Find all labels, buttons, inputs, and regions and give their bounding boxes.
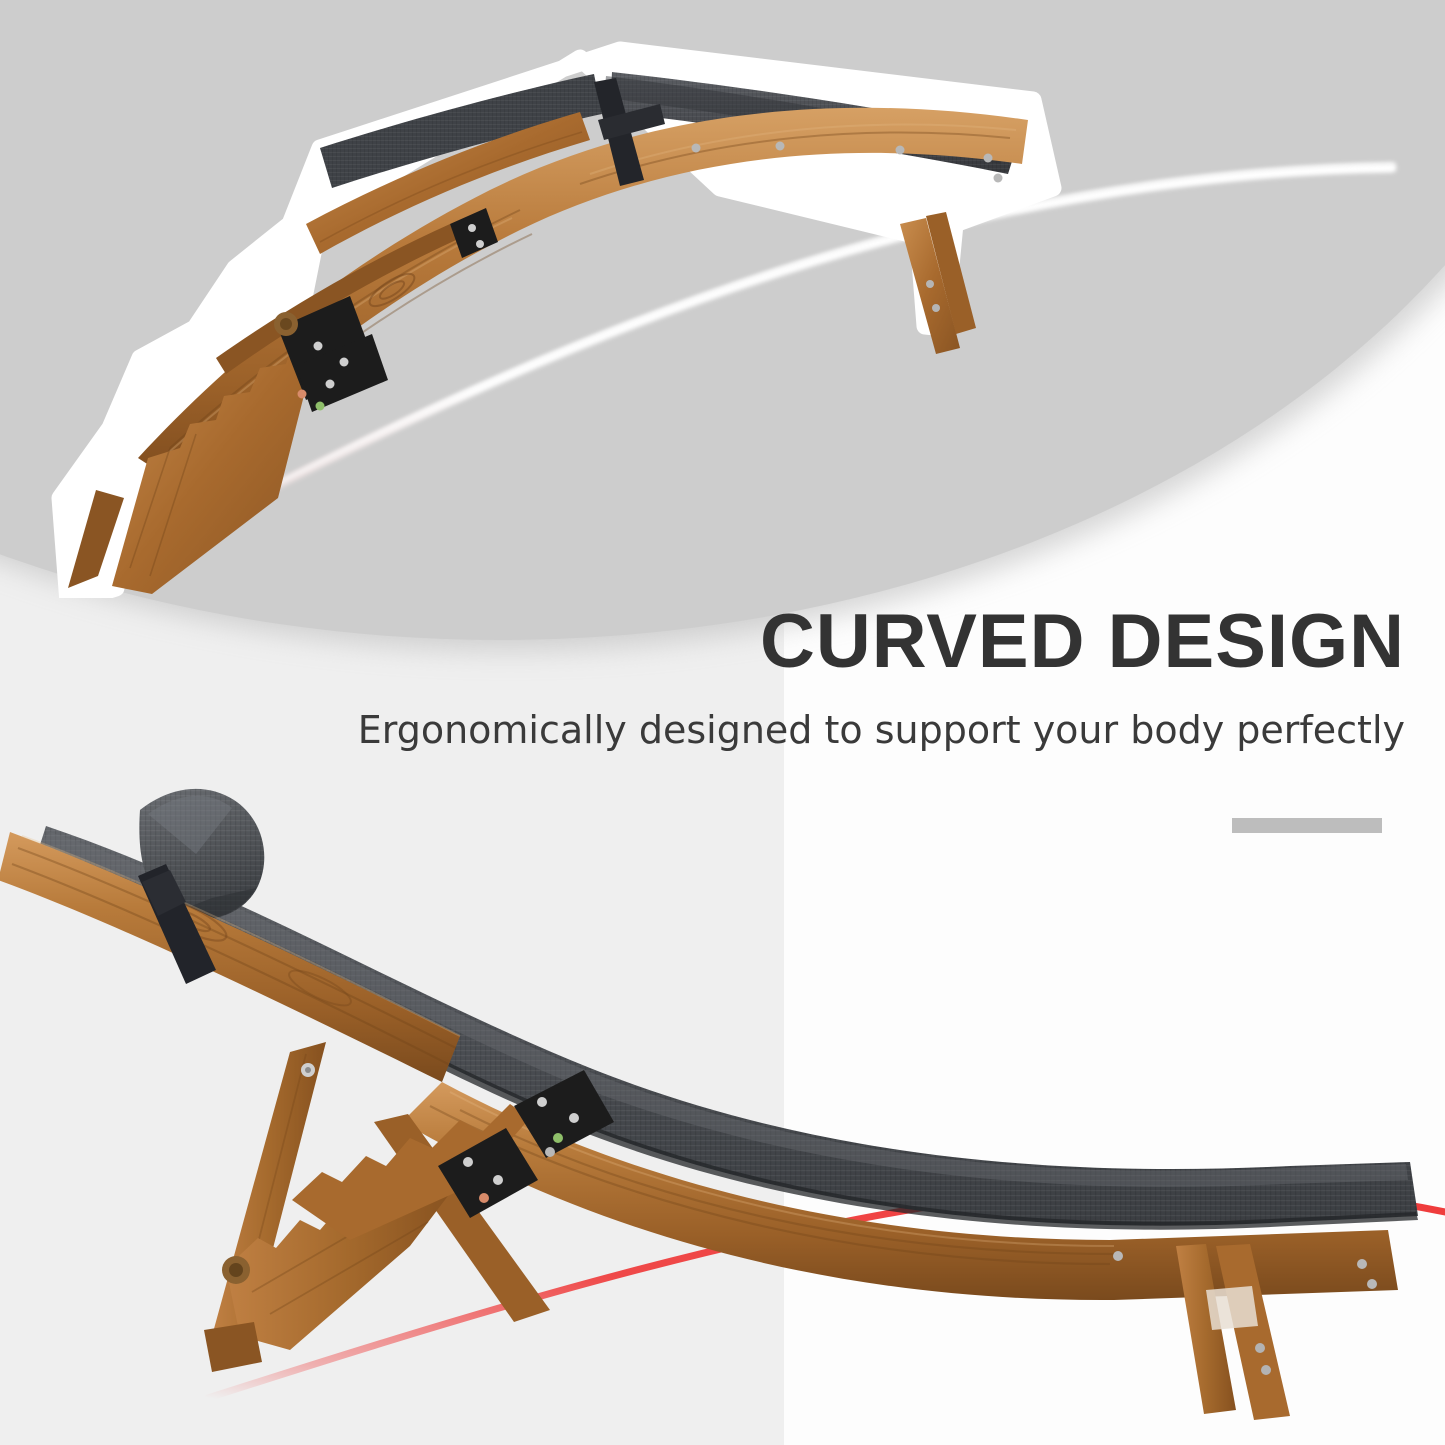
accent-bar	[1232, 818, 1382, 833]
copy-block: CURVED DESIGN Ergonomically designed to …	[0, 604, 1405, 752]
marketing-banner: CURVED DESIGN Ergonomically designed to …	[0, 0, 1445, 1445]
page-title: CURVED DESIGN	[0, 604, 1405, 680]
page-subtitle: Ergonomically designed to support your b…	[0, 680, 1405, 752]
